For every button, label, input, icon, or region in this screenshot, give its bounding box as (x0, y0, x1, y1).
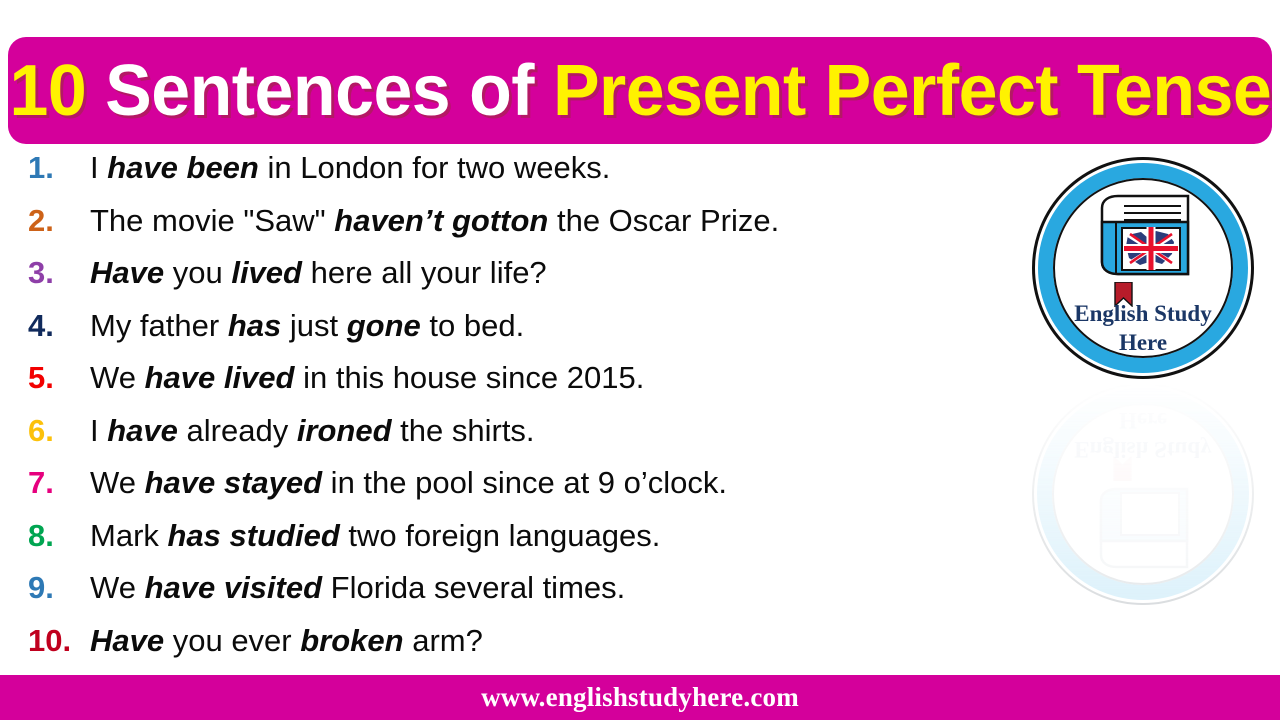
list-item-number: 3. (28, 257, 90, 288)
list-item-number: 10. (28, 625, 90, 656)
list-item-text: I have already ironed the shirts. (90, 415, 535, 446)
text-pre: My father (90, 308, 228, 343)
title-part-count: 10 (9, 51, 105, 131)
text-mid: already (178, 413, 297, 448)
list-item: 4. My father has just gone to bed. (28, 310, 1028, 363)
list-item-number: 8. (28, 520, 90, 551)
text-post: to bed. (421, 308, 524, 343)
list-item-text: My father has just gone to bed. (90, 310, 524, 341)
text-bold-1: has (228, 308, 281, 343)
text-bold-1: have lived (145, 360, 295, 395)
text-mid: the Oscar Prize. (548, 203, 779, 238)
text-pre: I (90, 413, 107, 448)
list-item-text: Mark has studied two foreign languages. (90, 520, 660, 551)
list-item-text: I have been in London for two weeks. (90, 152, 610, 183)
text-pre: We (90, 360, 145, 395)
logo-title-line1: English Study (1074, 301, 1211, 326)
text-bold-1: haven’t gotton (334, 203, 548, 238)
text-pre: The movie "Saw" (90, 203, 334, 238)
list-item-number: 2. (28, 205, 90, 236)
text-bold-1: have stayed (145, 465, 323, 500)
text-bold-1: Have (90, 623, 164, 658)
text-bold-1: have (107, 413, 178, 448)
page-title: 10 Sentences of Present Perfect Tense (9, 55, 1271, 127)
list-item: 9. We have visited Florida several times… (28, 572, 1028, 625)
text-bold-2: ironed (297, 413, 392, 448)
text-mid: two foreign languages. (340, 518, 661, 553)
text-mid: Florida several times. (322, 570, 625, 605)
footer-bar: www.englishstudyhere.com (0, 675, 1280, 720)
text-post: arm? (404, 623, 483, 658)
text-pre: We (90, 465, 145, 500)
logo-reflection: English Study Here (1032, 383, 1254, 605)
logo-reflection-line1: English Study (1074, 437, 1211, 462)
text-mid: in London for two weeks. (259, 150, 611, 185)
list-item: 2. The movie "Saw" haven’t gotton the Os… (28, 205, 1028, 258)
list-item: 6. I have already ironed the shirts. (28, 415, 1028, 468)
text-pre: I (90, 150, 107, 185)
logo-badge: English Study Here (1032, 157, 1254, 379)
list-item: 8. Mark has studied two foreign language… (28, 520, 1028, 573)
text-bold-2: gone (347, 308, 421, 343)
list-item-text: We have visited Florida several times. (90, 572, 625, 603)
text-pre: We (90, 570, 145, 605)
list-item-text: Have you lived here all your life? (90, 257, 547, 288)
text-bold-2: lived (231, 255, 302, 290)
text-pre: Mark (90, 518, 168, 553)
text-mid: in this house since 2015. (294, 360, 644, 395)
footer-url[interactable]: www.englishstudyhere.com (481, 682, 799, 713)
logo-reflection-title: English Study Here (1034, 406, 1252, 464)
list-item: 3. Have you lived here all your life? (28, 257, 1028, 310)
book-icon-reflection (1095, 477, 1195, 569)
logo-reflection-ring-inner (1052, 403, 1234, 585)
title-banner: 10 Sentences of Present Perfect Tense (8, 37, 1272, 144)
list-item-number: 6. (28, 415, 90, 446)
logo-reflection-ring (1037, 388, 1249, 600)
text-bold-1: Have (90, 255, 164, 290)
text-bold-1: have been (107, 150, 259, 185)
list-item-number: 5. (28, 362, 90, 393)
logo-reflection-line2: Here (1034, 406, 1252, 435)
title-part-plain: Sentences of (105, 51, 553, 131)
list-item-number: 7. (28, 467, 90, 498)
text-mid: in the pool since at 9 o’clock. (322, 465, 727, 500)
sentence-list: 1. I have been in London for two weeks. … (28, 152, 1028, 677)
list-item: 1. I have been in London for two weeks. (28, 152, 1028, 205)
text-mid: just (281, 308, 346, 343)
text-mid: you (164, 255, 231, 290)
list-item: 7. We have stayed in the pool since at 9… (28, 467, 1028, 520)
bookmark-ribbon-icon-reflection (1113, 456, 1132, 481)
text-mid: you ever (164, 623, 300, 658)
list-item-number: 1. (28, 152, 90, 183)
text-post: here all your life? (302, 255, 547, 290)
text-bold-2: broken (300, 623, 403, 658)
list-item-text: We have lived in this house since 2015. (90, 362, 644, 393)
text-bold-1: has studied (168, 518, 340, 553)
list-item-number: 4. (28, 310, 90, 341)
list-item-text: Have you ever broken arm? (90, 625, 483, 656)
logo-title: English Study Here (1035, 300, 1251, 358)
list-item-number: 9. (28, 572, 90, 603)
list-item-text: We have stayed in the pool since at 9 o’… (90, 467, 727, 498)
logo: English Study Here (1032, 157, 1254, 379)
text-bold-1: have visited (145, 570, 322, 605)
list-item: 10. Have you ever broken arm? (28, 625, 1028, 678)
list-item: 5. We have lived in this house since 201… (28, 362, 1028, 415)
list-item-text: The movie "Saw" haven’t gotton the Oscar… (90, 205, 779, 236)
logo-reflection-badge: English Study Here (1032, 383, 1254, 605)
book-icon (1096, 194, 1196, 286)
text-post: the shirts. (392, 413, 535, 448)
title-part-highlight: Present Perfect Tense (553, 51, 1271, 131)
logo-title-line2: Here (1035, 329, 1251, 358)
